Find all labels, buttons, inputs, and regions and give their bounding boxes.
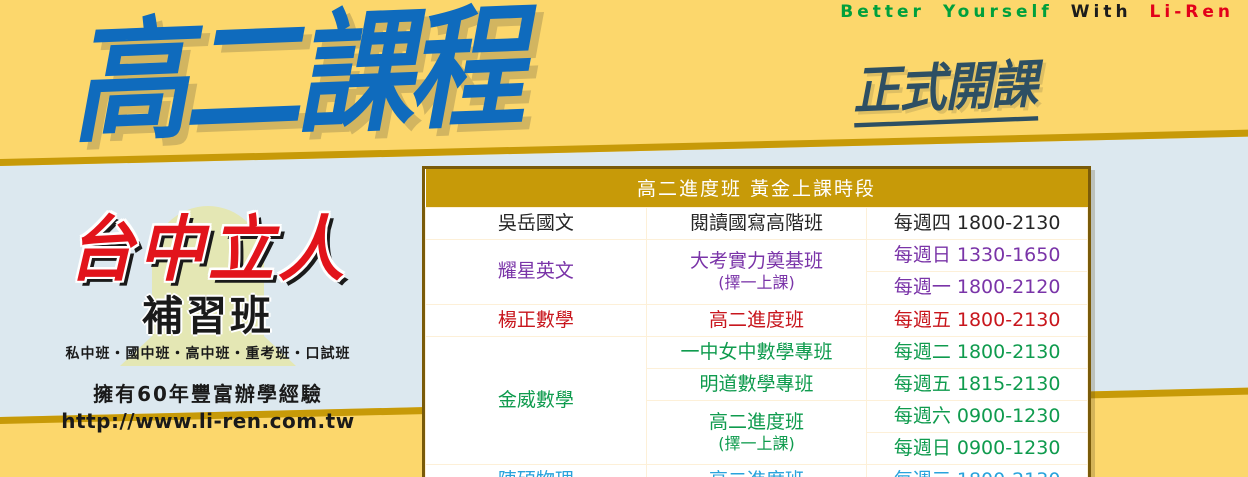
cell-teacher: 楊正數學 <box>426 304 647 336</box>
logo-experience-text: 擁有60年豐富辦學經驗 <box>28 378 388 407</box>
cell-teacher: 吳岳國文 <box>426 208 647 240</box>
school-logo: 台中立人 補習班 私中班・國中班・高中班・重考班・口試班 擁有60年豐富辦學經驗… <box>28 215 388 433</box>
tagline-word-with: With <box>1071 2 1132 22</box>
cell-course-note: (擇一上課) <box>653 273 861 293</box>
cell-course: 明道數學專班 <box>646 368 867 400</box>
logo-school-type: 補習班 <box>28 296 388 337</box>
page-title: 高二課程 <box>68 1 521 150</box>
cell-course: 高二進度班 <box>646 304 867 336</box>
cell-course: 高二進度班 <box>646 465 867 477</box>
schedule-table-container: 高二進度班 黃金上課時段 吳岳國文閱讀國寫高階班每週四 1800-2130耀星英… <box>422 166 1091 477</box>
table-row: 陳碩物理高二進度班每週三 1800-2130 <box>426 465 1088 477</box>
cell-teacher: 陳碩物理 <box>426 465 647 477</box>
cell-course: 一中女中數學專班 <box>646 336 867 368</box>
table-row: 耀星英文大考實力奠基班(擇一上課)每週日 1330-1650 <box>426 240 1088 272</box>
cell-teacher: 耀星英文 <box>426 240 647 304</box>
tagline-word-better: Better <box>840 2 925 22</box>
cell-time: 每週一 1800-2120 <box>867 272 1088 304</box>
cell-course: 高二進度班(擇一上課) <box>646 401 867 465</box>
cell-course: 大考實力奠基班(擇一上課) <box>646 240 867 304</box>
schedule-table-head: 高二進度班 黃金上課時段 <box>426 169 1088 208</box>
cell-teacher: 金威數學 <box>426 336 647 465</box>
cell-time: 每週五 1815-2130 <box>867 368 1088 400</box>
schedule-table-body: 吳岳國文閱讀國寫高階班每週四 1800-2130耀星英文大考實力奠基班(擇一上課… <box>426 208 1088 477</box>
page-subtitle: 正式開課 <box>852 59 1038 128</box>
cell-time: 每週四 1800-2130 <box>867 208 1088 240</box>
logo-website-url[interactable]: http://www.li-ren.com.tw <box>28 409 388 433</box>
schedule-table: 高二進度班 黃金上課時段 吳岳國文閱讀國寫高階班每週四 1800-2130耀星英… <box>425 169 1088 477</box>
table-row: 楊正數學高二進度班每週五 1800-2130 <box>426 304 1088 336</box>
schedule-header-row: 高二進度班 黃金上課時段 <box>426 169 1088 208</box>
brand-tagline: BetterYourselfWithLi-Ren <box>840 2 1234 22</box>
cell-time: 每週日 1330-1650 <box>867 240 1088 272</box>
cell-time: 每週日 0900-1230 <box>867 433 1088 465</box>
cell-course: 閱讀國寫高階班 <box>646 208 867 240</box>
cell-time: 每週三 1800-2130 <box>867 465 1088 477</box>
tagline-word-yourself: Yourself <box>943 2 1053 22</box>
cell-time: 每週二 1800-2130 <box>867 336 1088 368</box>
schedule-header-title: 高二進度班 黃金上課時段 <box>426 169 1088 208</box>
table-row: 金威數學一中女中數學專班每週二 1800-2130 <box>426 336 1088 368</box>
logo-school-name: 台中立人 <box>28 212 388 287</box>
tagline-word-liren: Li-Ren <box>1150 2 1234 22</box>
cell-course-note: (擇一上課) <box>653 434 861 454</box>
course-banner: BetterYourselfWithLi-Ren 高二課程 正式開課 台中立人 … <box>0 0 1248 477</box>
logo-class-tags: 私中班・國中班・高中班・重考班・口試班 <box>28 343 388 363</box>
cell-time: 每週五 1800-2130 <box>867 304 1088 336</box>
cell-time: 每週六 0900-1230 <box>867 401 1088 433</box>
table-row: 吳岳國文閱讀國寫高階班每週四 1800-2130 <box>426 208 1088 240</box>
